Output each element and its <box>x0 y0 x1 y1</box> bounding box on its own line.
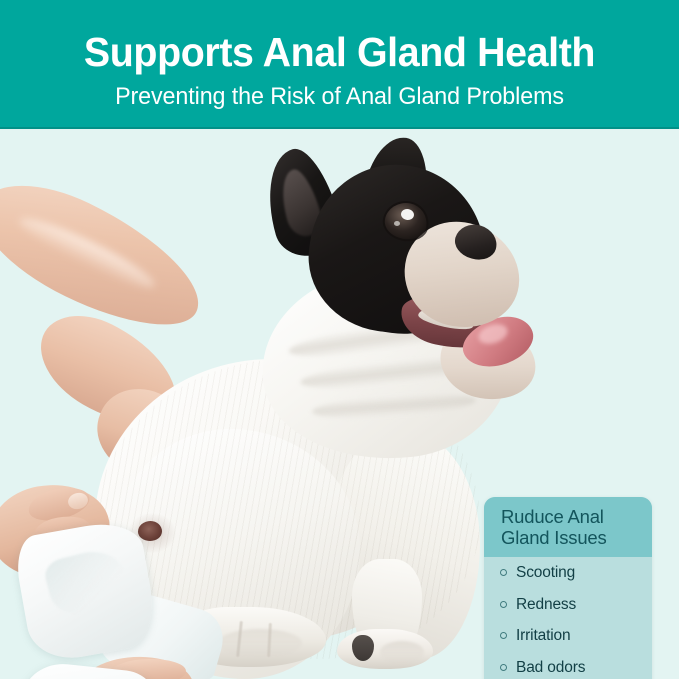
callout-item: Bad odors <box>484 652 652 679</box>
dog-tail-spot <box>138 521 162 541</box>
callout-list: ScootingRednessIrritationBad odorsSwelli… <box>484 557 652 679</box>
header-banner: Supports Anal Gland Health Preventing th… <box>0 0 679 129</box>
dog-rear-paw-toes <box>218 629 302 657</box>
callout-item: Redness <box>484 589 652 621</box>
callout-item: Irritation <box>484 620 652 652</box>
dog-eye-glint-secondary <box>394 221 400 226</box>
callout-item-label: Bad odors <box>516 659 585 676</box>
callout-item-label: Scooting <box>516 564 575 581</box>
circle-outline-icon <box>500 601 507 608</box>
callout-panel: Ruduce Anal Gland Issues ScootingRedness… <box>484 497 652 679</box>
callout-item-label: Redness <box>516 596 576 613</box>
page-title: Supports Anal Gland Health <box>14 28 666 76</box>
circle-outline-icon <box>500 632 507 639</box>
circle-outline-icon <box>500 664 507 671</box>
product-photo: Ruduce Anal Gland Issues ScootingRedness… <box>0 129 679 679</box>
product-infographic: Supports Anal Gland Health Preventing th… <box>0 0 679 679</box>
callout-item-label: Irritation <box>516 627 571 644</box>
page-subtitle: Preventing the Risk of Anal Gland Proble… <box>10 82 669 112</box>
circle-outline-icon <box>500 569 507 576</box>
callout-title: Ruduce Anal Gland Issues <box>501 506 652 548</box>
callout-header: Ruduce Anal Gland Issues <box>484 497 652 557</box>
dog-front-paw-toes <box>380 641 424 663</box>
callout-item: Scooting <box>484 557 652 589</box>
